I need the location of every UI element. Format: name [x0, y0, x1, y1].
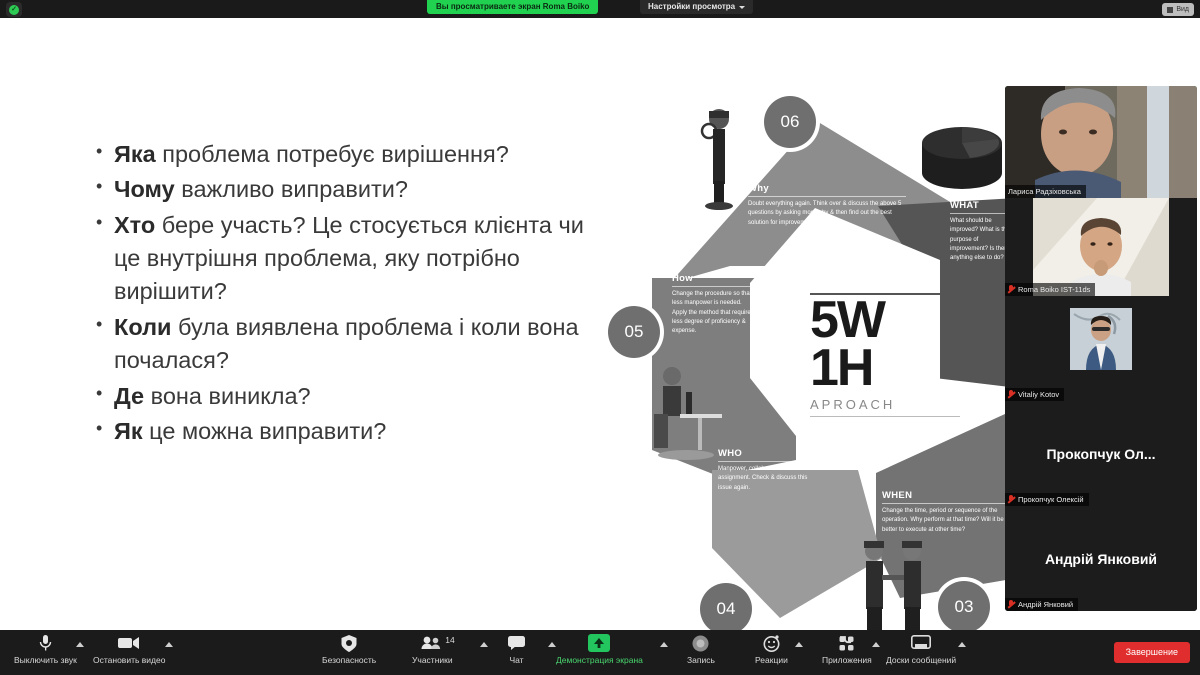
audio-options-caret[interactable]: [76, 642, 84, 647]
security-label: Безопасность: [322, 655, 376, 665]
bullet-icon: •: [96, 173, 114, 201]
view-settings-label: Настройки просмотра: [648, 0, 735, 14]
record-label: Запись: [687, 655, 715, 665]
participants-icon: 14: [421, 633, 443, 653]
step-number-05: 05: [608, 306, 660, 358]
list-item: • Коли була виявлена проблема і коли вон…: [96, 311, 606, 378]
diagram-center-wordmark: 5W 1H APROACH: [810, 293, 985, 417]
mic-muted-icon: [1008, 285, 1015, 294]
mic-muted-icon: [1008, 495, 1015, 504]
bullet-icon: •: [96, 209, 114, 237]
avatar: Прокопчук Ол...: [1005, 401, 1197, 506]
participant-name: Андрій Янковий: [1018, 599, 1073, 611]
center-subtitle: APROACH: [810, 397, 985, 412]
reactions-label: Реакции: [755, 655, 788, 665]
view-button-label: Вид: [1176, 3, 1189, 16]
bullet-text: Яка проблема потребує вирішення?: [114, 138, 606, 171]
participant-name-tag: Roma Boiko IST-11ds: [1005, 283, 1095, 296]
microphone-icon: [39, 633, 52, 653]
record-icon: [692, 633, 709, 653]
shield-check-icon[interactable]: ✓: [6, 2, 22, 17]
chevron-down-icon: [739, 6, 745, 9]
mic-muted-icon: [1008, 390, 1015, 399]
participant-name-tag: Прокопчук Олексій: [1005, 493, 1089, 506]
screen-share-banner: Вы просматриваете экран Roma Boiko: [427, 0, 598, 14]
bullet-icon: •: [96, 311, 114, 339]
segment-who: WHO Manpower, collaboration or task assi…: [718, 448, 814, 493]
reactions-button[interactable]: Реакции: [755, 633, 788, 673]
video-options-caret[interactable]: [165, 642, 173, 647]
pie-chart-icon: [918, 113, 1006, 195]
video-tile-participant[interactable]: Лариса Радзіховська: [1005, 86, 1197, 198]
apps-options-caret[interactable]: [872, 642, 880, 647]
bullet-icon: •: [96, 138, 114, 166]
list-item: • Як це можна виправити?: [96, 415, 606, 448]
list-item: • Де вона виникла?: [96, 380, 606, 413]
mute-label: Выключить звук: [14, 655, 77, 665]
share-screen-icon: [588, 633, 610, 653]
participant-name: Прокопчук Олексій: [1018, 494, 1084, 506]
list-item: • Хто бере участь? Це стосується клієнта…: [96, 209, 606, 309]
chat-icon: [508, 633, 525, 653]
reactions-icon: [763, 633, 780, 653]
share-screen-label: Демонстрация экрана: [556, 655, 643, 665]
shield-icon: [341, 633, 357, 653]
participants-label: Участники: [412, 655, 453, 665]
bullet-text: Де вона виникла?: [114, 380, 606, 413]
chat-options-caret[interactable]: [548, 642, 556, 647]
segment-how: How Change the procedure so that less ma…: [672, 273, 754, 336]
list-item: • Чому важливо виправити?: [96, 173, 606, 206]
center-line-1h: 1H: [810, 345, 985, 393]
person-at-desk-icon: [646, 358, 724, 463]
zoom-meeting-window: ✓ Вы просматриваете экран Roma Boiko Нас…: [0, 0, 1200, 675]
participant-name-tag: Vitaliy Kotov: [1005, 388, 1064, 401]
video-feed: [1005, 198, 1197, 296]
list-item: • Яка проблема потребує вирішення?: [96, 138, 606, 171]
bullet-text: Як це можна виправити?: [114, 415, 606, 448]
center-line-5w: 5W: [810, 297, 985, 345]
participant-name: Roma Boiko IST-11ds: [1018, 284, 1090, 296]
video-tile-participant[interactable]: Vitaliy Kotov: [1005, 296, 1197, 401]
step-number-04: 04: [700, 583, 752, 630]
step-number-03: 03: [938, 581, 990, 630]
bullet-icon: •: [96, 415, 114, 443]
grid-icon: [1167, 7, 1173, 13]
five-w-one-h-diagram: 06 05 04 03 Why Doubt everything again. …: [600, 78, 1020, 630]
apps-button[interactable]: Приложения: [822, 633, 872, 673]
end-meeting-button[interactable]: Завершение: [1114, 642, 1190, 663]
participants-count: 14: [445, 635, 454, 645]
participant-name-tag: Лариса Радзіховська: [1005, 185, 1086, 198]
segment-why: Why Doubt everything again. Think over &…: [748, 183, 906, 228]
view-settings-button[interactable]: Настройки просмотра: [640, 0, 753, 14]
chat-button[interactable]: Чат: [508, 633, 525, 673]
participant-name-tag: Андрій Янковий: [1005, 598, 1078, 611]
whiteboard-icon: [911, 633, 931, 653]
video-tile-participant[interactable]: Roma Boiko IST-11ds: [1005, 198, 1197, 296]
video-label: Остановить видео: [93, 655, 165, 665]
share-screen-button[interactable]: Демонстрация экрана: [556, 633, 643, 673]
participants-button[interactable]: 14 Участники: [412, 633, 453, 673]
whiteboards-label: Доски сообщений: [886, 655, 956, 665]
participants-options-caret[interactable]: [480, 642, 488, 647]
view-layout-button[interactable]: Вид: [1162, 3, 1194, 16]
mic-muted-icon: [1008, 600, 1015, 609]
video-tile-participant[interactable]: Андрій Янковий Андрій Янковий: [1005, 506, 1197, 611]
meeting-toolbar: Выключить звук Остановить видео Безопасн…: [0, 630, 1200, 675]
chat-label: Чат: [509, 655, 523, 665]
avatar: [1070, 308, 1132, 370]
video-tile-participant[interactable]: Прокопчук Ол... Прокопчук Олексій: [1005, 401, 1197, 506]
step-number-06: 06: [764, 96, 816, 148]
avatar: Андрій Янковий: [1005, 506, 1197, 611]
two-people-handshake-icon: [850, 533, 942, 630]
participant-name: Vitaliy Kotov: [1018, 389, 1059, 401]
record-button[interactable]: Запись: [687, 633, 715, 673]
whiteboards-button[interactable]: Доски сообщений: [886, 633, 956, 673]
bullet-text: Хто бере участь? Це стосується клієнта ч…: [114, 209, 606, 309]
security-button[interactable]: Безопасность: [322, 633, 376, 673]
apps-icon: [838, 633, 855, 653]
segment-when: WHEN Change the time, period or sequence…: [882, 490, 1014, 535]
participant-name: Лариса Радзіховська: [1008, 186, 1081, 198]
reactions-options-caret[interactable]: [795, 642, 803, 647]
slide-bullet-list: • Яка проблема потребує вирішення? • Чом…: [96, 138, 606, 450]
person-magnifier-icon: [696, 103, 742, 213]
bullet-icon: •: [96, 380, 114, 408]
camera-icon: [118, 633, 140, 653]
bullet-text: Чому важливо виправити?: [114, 173, 606, 206]
top-bar: ✓ Вы просматриваете экран Roma Boiko Нас…: [0, 0, 1200, 18]
share-options-caret[interactable]: [660, 642, 668, 647]
video-button[interactable]: Остановить видео: [93, 633, 165, 673]
video-feed: [1005, 86, 1197, 198]
participant-video-strip[interactable]: Лариса Радзіховська: [1005, 86, 1197, 611]
mute-button[interactable]: Выключить звук: [14, 633, 77, 673]
apps-label: Приложения: [822, 655, 872, 665]
whiteboards-options-caret[interactable]: [958, 642, 966, 647]
bullet-text: Коли була виявлена проблема і коли вона …: [114, 311, 606, 378]
